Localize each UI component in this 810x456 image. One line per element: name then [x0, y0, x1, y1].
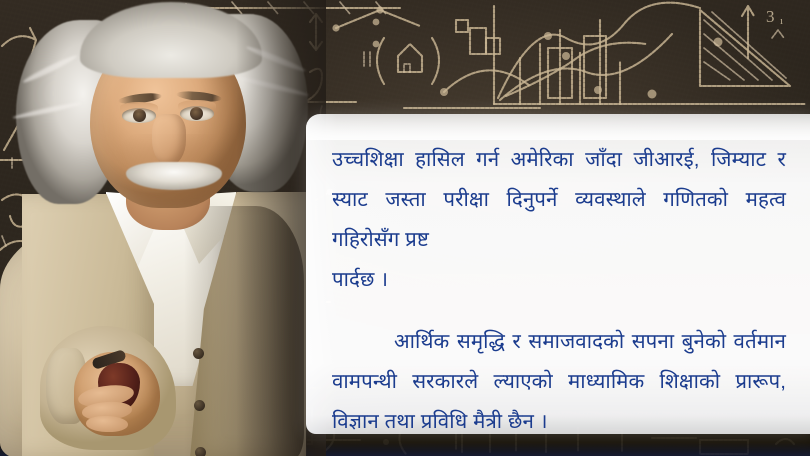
svg-text:3: 3: [766, 7, 775, 26]
nose: [152, 114, 186, 166]
article-paragraph-2: आर्थिक समृद्धि र समाजवादको सपना बुनेको व…: [332, 322, 786, 434]
eyelid-left: [120, 102, 158, 112]
article-paragraph-1: उच्चशिक्षा हासिल गर्न अमेरिका जाँदा जीआर…: [332, 140, 786, 300]
paragraph-1-last-line: पार्दछ ।: [332, 260, 786, 300]
svg-text:ı: ı: [780, 15, 783, 27]
article-image-stage: 3 ı 2 s €: [0, 0, 810, 456]
torso-shadow: [184, 206, 304, 456]
eyelid-right: [178, 100, 216, 110]
paragraph-1-text: उच्चशिक्षा हासिल गर्न अमेरिका जाँदा जीआर…: [332, 148, 786, 251]
text-overlay-panel: उच्चशिक्षा हासिल गर्न अमेरिका जाँदा जीआर…: [306, 114, 810, 434]
paragraph-2-text: आर्थिक समृद्धि र समाजवादको सपना बुनेको व…: [332, 330, 786, 433]
panel-top-sheen: [306, 114, 810, 140]
einstein-photo-subject: [0, 0, 312, 456]
